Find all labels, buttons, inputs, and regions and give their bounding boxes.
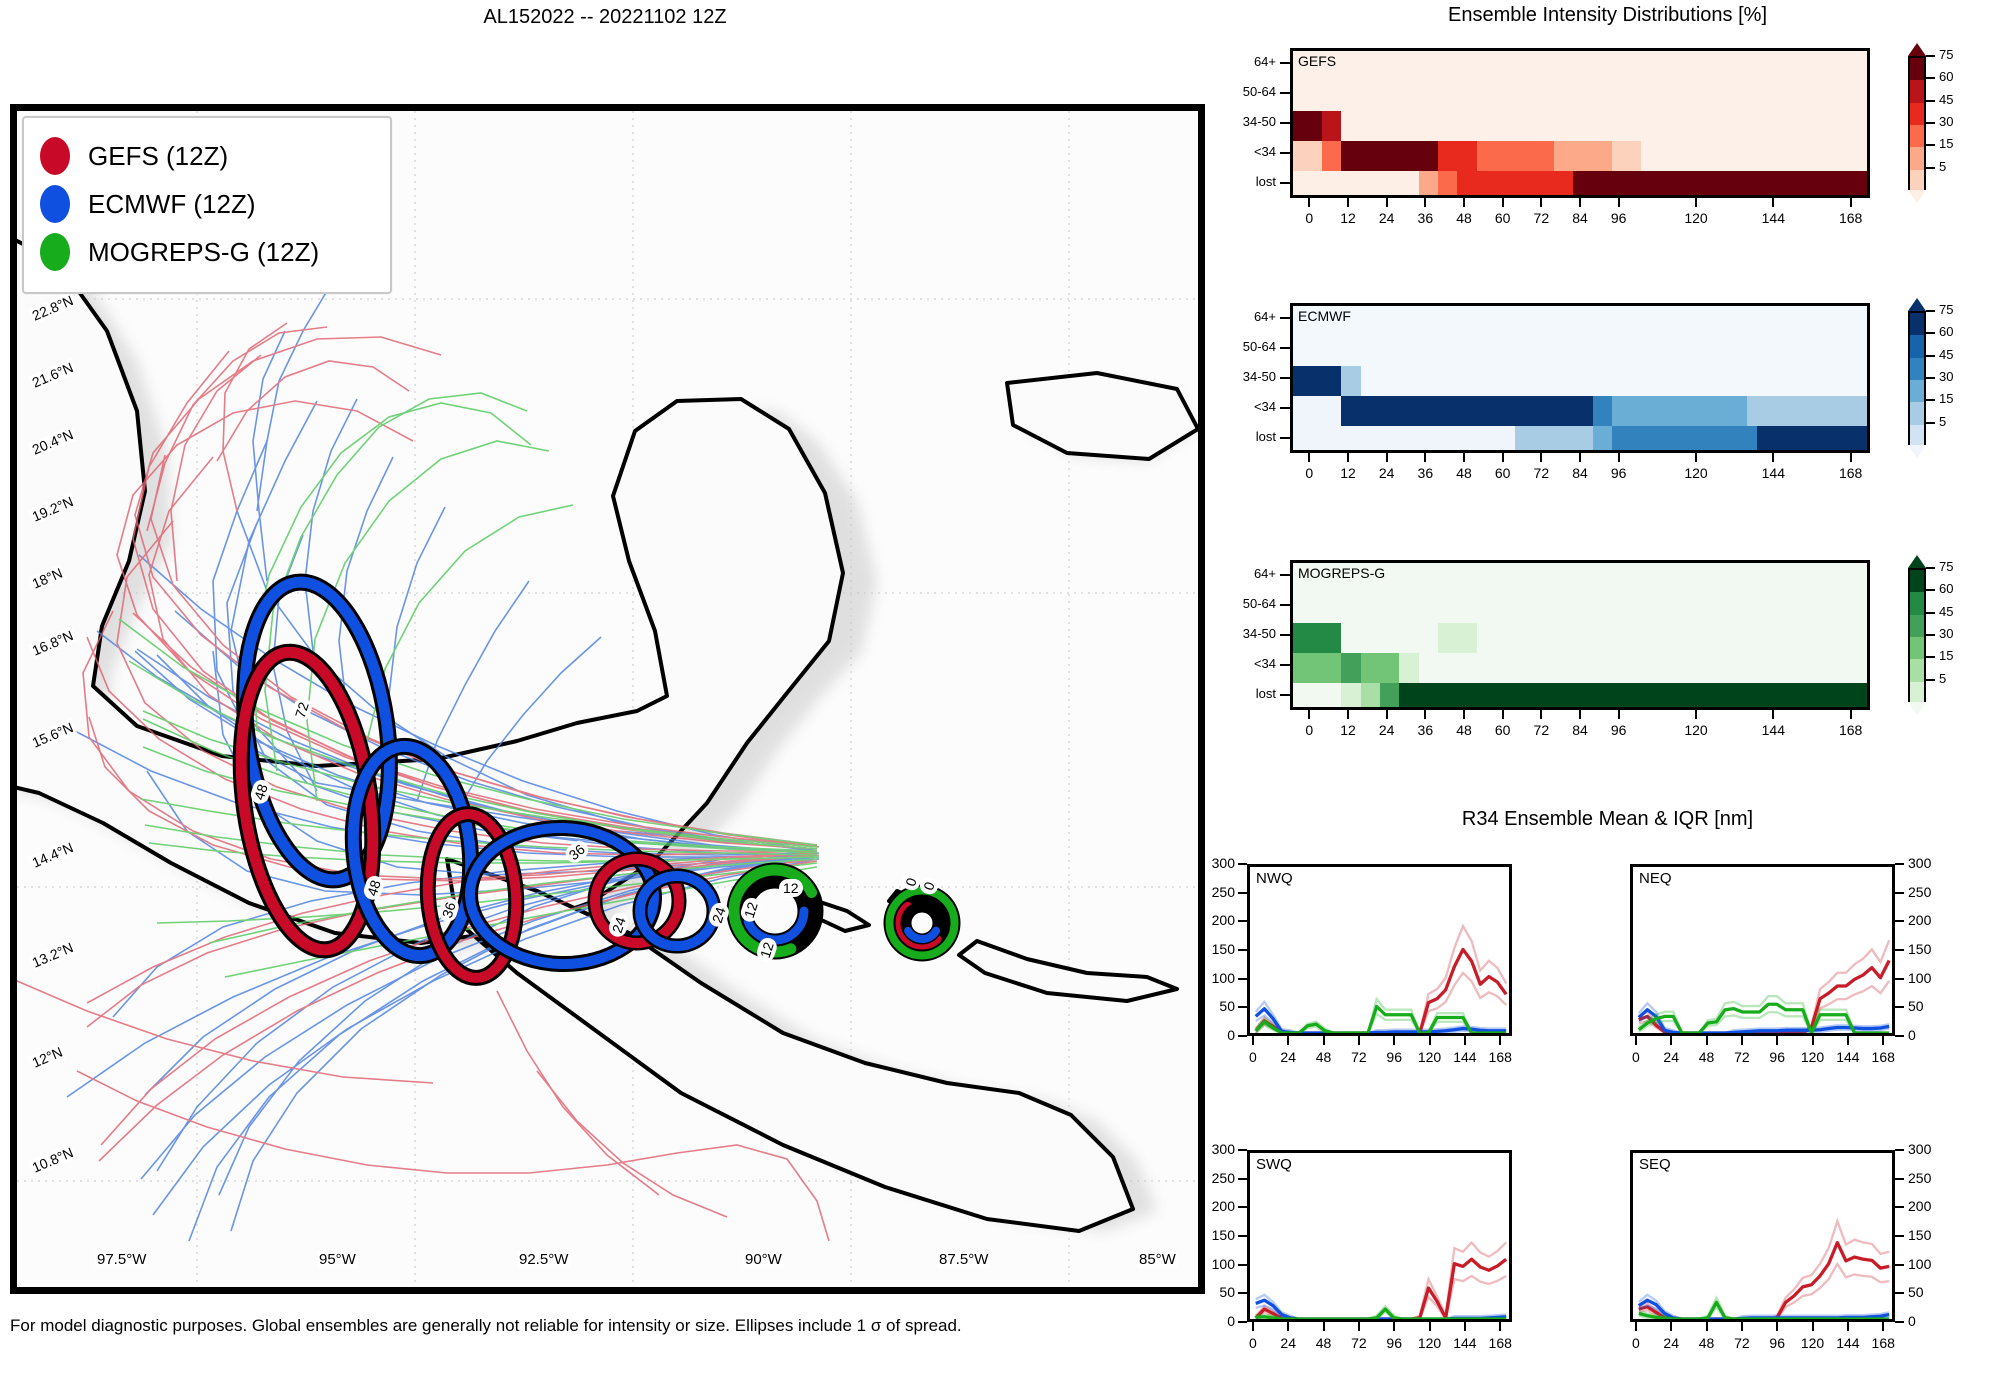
y-tick <box>1280 604 1290 606</box>
y-axis-label: 100 <box>1908 1256 1931 1272</box>
x-axis-label: 168 <box>1478 1335 1522 1351</box>
y-tick <box>1280 152 1290 154</box>
y-tick <box>1280 574 1290 576</box>
heatmap-cell <box>1380 683 1399 710</box>
x-tick <box>1424 710 1426 719</box>
colorbar-segment <box>1910 58 1924 80</box>
lon-label: 90°W <box>743 1251 784 1268</box>
heatmap-cell <box>1322 111 1341 141</box>
y-tick <box>1895 892 1904 894</box>
colorbar-tick-label: 15 <box>1939 648 1953 663</box>
r34-quadrant-label-nwq: NWQ <box>1256 870 1293 887</box>
heatmap-cell <box>1593 396 1612 426</box>
x-tick <box>1429 1036 1431 1045</box>
y-tick <box>1238 1178 1247 1180</box>
y-axis-label: 200 <box>1189 1198 1235 1214</box>
x-axis-label: 144 <box>1749 465 1797 481</box>
x-tick <box>1358 1036 1360 1045</box>
x-tick <box>1850 453 1852 462</box>
colorbar-segment <box>1910 402 1924 424</box>
intensity-plot-gefs[interactable]: GEFS <box>1290 48 1870 198</box>
x-tick <box>1347 710 1349 719</box>
x-axis-label: 96 <box>1595 722 1643 738</box>
y-axis-label: 50 <box>1908 1284 1924 1300</box>
y-axis-label: 300 <box>1908 855 1931 871</box>
colorbar-segment <box>1910 147 1924 169</box>
x-axis-label: 168 <box>1827 210 1875 226</box>
colorbar-segment <box>1910 592 1924 614</box>
heatmap-cell <box>1477 141 1554 171</box>
intensity-colorbar-mogreps-g <box>1908 568 1926 702</box>
x-axis-label: 96 <box>1595 465 1643 481</box>
r34-section-title: R34 Ensemble Mean & IQR [nm] <box>1215 808 2000 831</box>
heatmap-cell <box>1573 171 1870 198</box>
x-tick <box>1635 1322 1637 1331</box>
x-tick <box>1540 198 1542 207</box>
y-axis-label: lost <box>1180 174 1276 189</box>
x-tick <box>1579 198 1581 207</box>
heatmap-cell <box>1341 683 1360 710</box>
colorbar-tick <box>1926 422 1935 424</box>
y-tick <box>1895 1292 1904 1294</box>
heatmap-cell <box>1641 396 1747 426</box>
r34-curve-canvas <box>1250 1153 1509 1319</box>
x-tick <box>1772 710 1774 719</box>
heatmap-cell <box>1515 426 1554 453</box>
x-tick <box>1670 1322 1672 1331</box>
y-tick <box>1280 317 1290 319</box>
x-tick <box>1424 453 1426 462</box>
r34-mean-line-gefs <box>1256 949 1506 1033</box>
colorbar-tick <box>1926 310 1935 312</box>
y-tick <box>1238 920 1247 922</box>
colorbar-tick-label: 15 <box>1939 391 1953 406</box>
heatmap-cell <box>1554 426 1593 453</box>
x-tick <box>1502 198 1504 207</box>
colorbar-tick-label: 30 <box>1939 114 1953 129</box>
heatmap-cell <box>1438 623 1477 653</box>
y-tick <box>1238 892 1247 894</box>
heatmap-cell <box>1747 396 1870 426</box>
colorbar-segment <box>1910 125 1924 147</box>
y-axis-label: 64+ <box>1180 309 1276 324</box>
heatmap-cell <box>1612 426 1660 453</box>
x-tick <box>1323 1036 1325 1045</box>
intensity-plot-mogreps-g[interactable]: MOGREPS-G <box>1290 560 1870 710</box>
x-tick <box>1670 1036 1672 1045</box>
y-tick <box>1280 122 1290 124</box>
colorbar-arrow-up <box>1908 555 1926 568</box>
r34-curve-canvas <box>1633 867 1892 1033</box>
colorbar-tick-label: 75 <box>1939 559 1953 574</box>
heatmap-cell <box>1341 141 1438 171</box>
y-tick <box>1280 62 1290 64</box>
colorbar-segment <box>1910 335 1924 357</box>
y-tick <box>1238 1264 1247 1266</box>
y-tick <box>1238 1206 1247 1208</box>
x-tick <box>1463 710 1465 719</box>
heatmap-cell <box>1361 683 1380 710</box>
x-tick <box>1706 1322 1708 1331</box>
r34-plot-nwq[interactable]: NWQ <box>1247 864 1512 1036</box>
heatmap-cell <box>1293 683 1341 710</box>
y-tick <box>1895 863 1904 865</box>
heatmap-cell <box>1380 653 1399 683</box>
y-tick <box>1238 1149 1247 1151</box>
colorbar-tick <box>1926 332 1935 334</box>
lon-label: 85°W <box>1137 1251 1178 1268</box>
heatmap-cell <box>1399 683 1870 710</box>
ellipse-hour-label: 12 <box>779 879 803 897</box>
y-axis-label: 250 <box>1189 1170 1235 1186</box>
colorbar-segment <box>1910 380 1924 402</box>
colorbar-tick-label: 30 <box>1939 626 1953 641</box>
x-tick <box>1579 453 1581 462</box>
intensity-colorbar-ecmwf <box>1908 311 1926 445</box>
x-tick <box>1847 1322 1849 1331</box>
y-axis-label: <34 <box>1180 656 1276 671</box>
x-tick <box>1429 1322 1431 1331</box>
y-tick <box>1895 1206 1904 1208</box>
colorbar-tick <box>1926 55 1935 57</box>
colorbar-tick-label: 5 <box>1939 671 1946 686</box>
x-axis-label: 168 <box>1827 465 1875 481</box>
page-title: AL152022 -- 20221102 12Z <box>0 6 1210 29</box>
r34-curve-canvas <box>1633 1153 1892 1319</box>
colorbar-segment <box>1910 103 1924 125</box>
colorbar-segment <box>1910 659 1924 681</box>
heatmap-cell <box>1399 653 1418 683</box>
lon-label: 92.5°W <box>517 1251 570 1268</box>
y-axis-label: 200 <box>1189 912 1235 928</box>
x-tick <box>1252 1322 1254 1331</box>
x-tick <box>1772 453 1774 462</box>
x-axis-label: 96 <box>1595 210 1643 226</box>
colorbar-tick <box>1926 612 1935 614</box>
x-tick <box>1776 1322 1778 1331</box>
heatmap-cell <box>1438 171 1457 198</box>
heatmap-cell <box>1457 141 1476 171</box>
y-tick <box>1238 949 1247 951</box>
y-axis-label: 100 <box>1908 970 1931 986</box>
x-tick <box>1540 710 1542 719</box>
y-tick <box>1238 978 1247 980</box>
x-axis-label: 168 <box>1861 1049 1905 1065</box>
colorbar-tick <box>1926 656 1935 658</box>
colorbar-tick <box>1926 679 1935 681</box>
x-tick <box>1776 1036 1778 1045</box>
x-tick <box>1287 1036 1289 1045</box>
x-tick <box>1499 1322 1501 1331</box>
intensity-section-title: Ensemble Intensity Distributions [%] <box>1215 4 2000 27</box>
y-axis-label: 0 <box>1908 1313 1916 1329</box>
intensity-model-label-gefs: GEFS <box>1298 53 1336 69</box>
x-tick <box>1850 710 1852 719</box>
y-axis-label: 150 <box>1908 941 1931 957</box>
heatmap-cell <box>1419 171 1438 198</box>
r34-mean-line-mogreps-g <box>1256 1006 1506 1033</box>
x-tick <box>1812 1322 1814 1331</box>
heatmap-cell <box>1341 366 1360 396</box>
x-tick <box>1772 198 1774 207</box>
x-tick <box>1358 1322 1360 1331</box>
y-tick <box>1280 407 1290 409</box>
y-axis-label: 200 <box>1908 912 1931 928</box>
colorbar-segment <box>1910 358 1924 380</box>
x-tick <box>1882 1036 1884 1045</box>
y-axis-label: 200 <box>1908 1198 1931 1214</box>
y-axis-label: 64+ <box>1180 54 1276 69</box>
colorbar-segment <box>1910 637 1924 659</box>
heatmap-cell <box>1612 141 1641 171</box>
y-tick <box>1280 437 1290 439</box>
y-axis-label: lost <box>1180 686 1276 701</box>
x-tick <box>1464 1036 1466 1045</box>
intensity-plot-ecmwf[interactable]: ECMWF <box>1290 303 1870 453</box>
x-axis-label: 120 <box>1672 465 1720 481</box>
y-axis-label: 250 <box>1908 1170 1931 1186</box>
y-tick <box>1895 1321 1904 1323</box>
x-tick <box>1812 1036 1814 1045</box>
heatmap-cell <box>1361 653 1380 683</box>
colorbar-tick <box>1926 77 1935 79</box>
x-tick <box>1386 710 1388 719</box>
colorbar-tick-label: 75 <box>1939 47 1953 62</box>
r34-plot-neq[interactable]: NEQ <box>1630 864 1895 1036</box>
x-tick <box>1741 1036 1743 1045</box>
y-axis-label: 0 <box>1189 1027 1235 1043</box>
colorbar-tick-label: 45 <box>1939 92 1953 107</box>
colorbar-tick-label: 45 <box>1939 604 1953 619</box>
x-tick <box>1323 1322 1325 1331</box>
lon-label: 95°W <box>317 1251 358 1268</box>
x-axis-label: 168 <box>1478 1049 1522 1065</box>
y-axis-label: 300 <box>1908 1141 1931 1157</box>
colorbar-segment <box>1910 313 1924 335</box>
y-tick <box>1238 1292 1247 1294</box>
x-axis-label: 168 <box>1827 722 1875 738</box>
y-axis-label: 50 <box>1189 1284 1235 1300</box>
legend-item-gefs[interactable]: GEFS (12Z) <box>40 132 374 180</box>
colorbar-tick <box>1926 567 1935 569</box>
x-tick <box>1463 198 1465 207</box>
colorbar-tick-label: 60 <box>1939 324 1953 339</box>
intensity-model-label-ecmwf: ECMWF <box>1298 308 1351 324</box>
r34-iqr-band <box>1639 1221 1889 1319</box>
y-tick <box>1280 182 1290 184</box>
y-axis-label: 0 <box>1908 1027 1916 1043</box>
heatmap-cell <box>1457 171 1573 198</box>
colorbar-segment <box>1910 615 1924 637</box>
heatmap-cell <box>1293 366 1341 396</box>
x-tick <box>1579 710 1581 719</box>
colorbar-segment <box>1910 425 1924 447</box>
intensity-model-label-mogreps-g: MOGREPS-G <box>1298 565 1385 581</box>
legend-item-ecmwf[interactable]: ECMWF (12Z) <box>40 180 374 228</box>
x-tick <box>1540 453 1542 462</box>
x-tick <box>1618 453 1620 462</box>
heatmap-cell <box>1757 426 1870 453</box>
y-tick <box>1238 1235 1247 1237</box>
y-tick <box>1895 1149 1904 1151</box>
colorbar-arrow-up <box>1908 298 1926 311</box>
x-tick <box>1252 1036 1254 1045</box>
intensity-colorbar-gefs <box>1908 56 1926 190</box>
y-axis-label: 100 <box>1189 970 1235 986</box>
legend-label-gefs: GEFS (12Z) <box>88 141 228 172</box>
r34-mean-line-gefs <box>1639 1243 1889 1319</box>
colorbar-tick-label: 60 <box>1939 69 1953 84</box>
y-axis-label: 150 <box>1189 1227 1235 1243</box>
r34-quadrant-label-swq: SWQ <box>1256 1156 1292 1173</box>
y-axis-label: 150 <box>1189 941 1235 957</box>
y-tick <box>1895 978 1904 980</box>
y-tick <box>1895 949 1904 951</box>
x-tick <box>1463 453 1465 462</box>
lon-label: 97.5°W <box>95 1251 148 1268</box>
y-tick <box>1895 1006 1904 1008</box>
x-tick <box>1347 453 1349 462</box>
r34-plot-seq[interactable]: SEQ <box>1630 1150 1895 1322</box>
x-tick <box>1308 453 1310 462</box>
x-tick <box>1393 1322 1395 1331</box>
heatmap-cell <box>1554 141 1612 171</box>
r34-quadrant-label-seq: SEQ <box>1639 1156 1671 1173</box>
y-axis-label: 150 <box>1908 1227 1931 1243</box>
y-axis-label: <34 <box>1180 144 1276 159</box>
x-tick <box>1347 198 1349 207</box>
colorbar-tick-label: 60 <box>1939 581 1953 596</box>
y-axis-label: 34-50 <box>1180 114 1276 129</box>
colorbar-tick <box>1926 634 1935 636</box>
y-axis-label: 50 <box>1189 998 1235 1014</box>
colorbar-tick <box>1926 100 1935 102</box>
r34-iqr-band <box>1639 1295 1889 1319</box>
heatmap-cell <box>1293 653 1341 683</box>
lon-label: 87.5°W <box>937 1251 990 1268</box>
x-axis-label: 168 <box>1861 1335 1905 1351</box>
colorbar-segment <box>1910 682 1924 704</box>
x-tick <box>1308 198 1310 207</box>
heatmap-cell <box>1341 396 1592 426</box>
y-axis-label: 100 <box>1189 1256 1235 1272</box>
x-tick <box>1393 1036 1395 1045</box>
y-axis-label: 250 <box>1189 884 1235 900</box>
y-axis-label: 50-64 <box>1180 339 1276 354</box>
colorbar-arrow-down <box>1908 445 1926 458</box>
heatmap-cell <box>1341 653 1360 683</box>
heatmap-cell <box>1293 171 1419 198</box>
colorbar-arrow-down <box>1908 702 1926 715</box>
y-axis-label: 64+ <box>1180 566 1276 581</box>
colorbar-segment <box>1910 80 1924 102</box>
colorbar-segment <box>1910 170 1924 192</box>
y-tick <box>1895 1178 1904 1180</box>
colorbar-tick <box>1926 589 1935 591</box>
y-tick <box>1238 1006 1247 1008</box>
colorbar-tick-label: 30 <box>1939 369 1953 384</box>
x-tick <box>1850 198 1852 207</box>
r34-plot-swq[interactable]: SWQ <box>1247 1150 1512 1322</box>
colorbar-segment <box>1910 570 1924 592</box>
y-tick <box>1238 863 1247 865</box>
y-tick <box>1280 377 1290 379</box>
y-tick <box>1895 920 1904 922</box>
y-tick <box>1280 664 1290 666</box>
y-axis-label: 50-64 <box>1180 84 1276 99</box>
x-tick <box>1502 710 1504 719</box>
x-tick <box>1287 1322 1289 1331</box>
y-tick <box>1238 1321 1247 1323</box>
legend-item-mogreps[interactable]: MOGREPS-G (12Z) <box>40 228 374 276</box>
x-tick <box>1386 453 1388 462</box>
y-tick <box>1280 634 1290 636</box>
x-tick <box>1847 1036 1849 1045</box>
heatmap-cell <box>1293 426 1515 453</box>
colorbar-tick <box>1926 144 1935 146</box>
y-tick <box>1895 1235 1904 1237</box>
x-axis-label: 120 <box>1672 722 1720 738</box>
r34-iqr-band <box>1256 1242 1506 1319</box>
y-axis-label: 50 <box>1908 998 1924 1014</box>
heatmap-cell <box>1660 426 1757 453</box>
x-tick <box>1386 198 1388 207</box>
colorbar-tick-label: 5 <box>1939 414 1946 429</box>
x-tick <box>1424 198 1426 207</box>
colorbar-tick-label: 75 <box>1939 302 1953 317</box>
heatmap-cell <box>1322 141 1341 171</box>
y-tick <box>1895 1035 1904 1037</box>
model-legend: GEFS (12Z) ECMWF (12Z) MOGREPS-G (12Z) <box>22 116 392 294</box>
x-tick <box>1695 710 1697 719</box>
heatmap-cell <box>1293 623 1341 653</box>
y-tick <box>1280 92 1290 94</box>
x-tick <box>1464 1322 1466 1331</box>
y-axis-label: 300 <box>1189 855 1235 871</box>
legend-label-ecmwf: ECMWF (12Z) <box>88 189 256 220</box>
colorbar-tick-label: 5 <box>1939 159 1946 174</box>
heatmap-cell <box>1612 396 1641 426</box>
heatmap-cell <box>1438 141 1457 171</box>
colorbar-tick <box>1926 167 1935 169</box>
legend-dot-mogreps <box>40 233 70 271</box>
x-axis-label: 144 <box>1749 210 1797 226</box>
heatmap-cell <box>1293 396 1341 426</box>
colorbar-arrow-up <box>1908 43 1926 56</box>
heatmap-cell <box>1293 141 1322 171</box>
y-tick <box>1280 347 1290 349</box>
y-axis-label: lost <box>1180 429 1276 444</box>
x-tick <box>1695 453 1697 462</box>
r34-quadrant-label-neq: NEQ <box>1639 870 1672 887</box>
x-tick <box>1706 1036 1708 1045</box>
y-axis-label: 34-50 <box>1180 369 1276 384</box>
y-tick <box>1280 694 1290 696</box>
y-axis-label: 300 <box>1189 1141 1235 1157</box>
x-axis-label: 120 <box>1672 210 1720 226</box>
y-axis-label: 50-64 <box>1180 596 1276 611</box>
colorbar-tick <box>1926 377 1935 379</box>
x-tick <box>1308 710 1310 719</box>
legend-dot-gefs <box>40 137 70 175</box>
x-tick <box>1635 1036 1637 1045</box>
y-axis-label: 250 <box>1908 884 1931 900</box>
legend-label-mogreps: MOGREPS-G (12Z) <box>88 237 319 268</box>
y-tick <box>1895 1264 1904 1266</box>
r34-curve-canvas <box>1250 867 1509 1033</box>
x-tick <box>1502 453 1504 462</box>
y-axis-label: <34 <box>1180 399 1276 414</box>
